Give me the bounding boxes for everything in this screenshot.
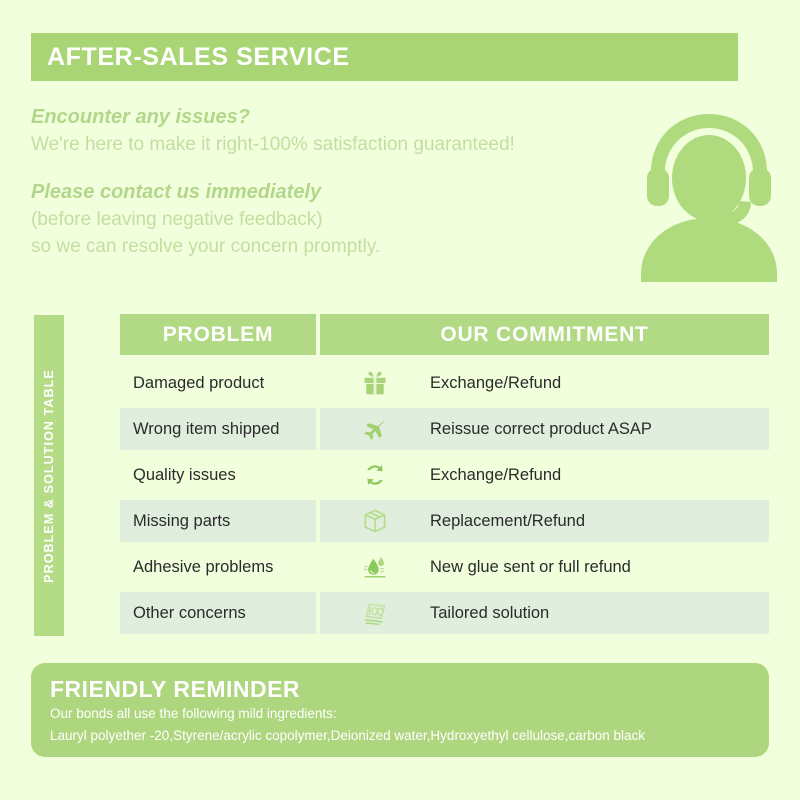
glue-droplet-icon <box>320 554 430 580</box>
page-title: AFTER-SALES SERVICE <box>31 43 350 72</box>
problem-label: Other concerns <box>133 604 246 623</box>
refresh-cycle-icon <box>320 462 430 488</box>
table-cell-commitment: Reissue correct product ASAP <box>320 408 769 450</box>
page-title-banner: AFTER-SALES SERVICE <box>31 33 738 81</box>
table-cell-commitment: Tailored solution <box>320 592 769 634</box>
sketch-note-icon <box>320 599 430 627</box>
problem-label: Damaged product <box>133 374 264 393</box>
problem-label: Missing parts <box>133 512 230 531</box>
friendly-reminder-title: FRIENDLY REMINDER <box>50 677 769 702</box>
intro-spacer <box>31 159 651 179</box>
table-cell-problem: Adhesive problems <box>120 546 316 588</box>
table-cell-commitment: Exchange/Refund <box>320 362 769 404</box>
after-sales-service-infographic: AFTER-SALES SERVICE Encounter any issues… <box>0 0 800 800</box>
side-label-problem-solution-table: PROBLEM & SOLUTION TABLE <box>34 315 64 636</box>
table-row: Damaged product Exchange/Refund <box>120 362 769 404</box>
side-label-text: PROBLEM & SOLUTION TABLE <box>42 369 56 583</box>
problem-solution-table: PROBLEM OUR COMMITMENT Damaged product <box>120 314 769 638</box>
intro-lead-1: Encounter any issues? <box>31 104 651 131</box>
commitment-label: New glue sent or full refund <box>430 558 631 577</box>
commitment-label: Exchange/Refund <box>430 374 561 393</box>
friendly-reminder-line-1: Our bonds all use the following mild ing… <box>50 704 769 724</box>
friendly-reminder-panel: FRIENDLY REMINDER Our bonds all use the … <box>31 663 769 757</box>
table-cell-commitment: Exchange/Refund <box>320 454 769 496</box>
intro-lead-2: Please contact us immediately <box>31 179 651 206</box>
column-header-problem-label: PROBLEM <box>163 323 274 347</box>
airplane-icon <box>320 415 430 443</box>
column-header-commitment-label: OUR COMMITMENT <box>440 323 648 347</box>
table-row: Other concerns Tailore <box>120 592 769 634</box>
gift-icon <box>320 369 430 397</box>
column-header-problem: PROBLEM <box>120 314 316 355</box>
table-row: Adhesive problems New glue sent or fu <box>120 546 769 588</box>
commitment-label: Reissue correct product ASAP <box>430 420 652 439</box>
intro-section: Encounter any issues? We're here to make… <box>31 104 651 261</box>
headset-support-agent-icon <box>629 106 789 282</box>
problem-label: Adhesive problems <box>133 558 273 577</box>
table-cell-problem: Missing parts <box>120 500 316 542</box>
problem-label: Wrong item shipped <box>133 420 279 439</box>
column-header-commitment: OUR COMMITMENT <box>320 314 769 355</box>
intro-sub-3: so we can resolve your concern promptly. <box>31 233 651 261</box>
commitment-label: Exchange/Refund <box>430 466 561 485</box>
intro-sub-1: We're here to make it right-100% satisfa… <box>31 131 651 159</box>
table-cell-problem: Other concerns <box>120 592 316 634</box>
table-header-row: PROBLEM OUR COMMITMENT <box>120 314 769 355</box>
table-row: Wrong item shipped Reissue correct produ… <box>120 408 769 450</box>
table-row: Quality issues Exchange/Refund <box>120 454 769 496</box>
intro-sub-2: (before leaving negative feedback) <box>31 206 651 234</box>
table-row: Missing parts Replacement/Refund <box>120 500 769 542</box>
table-cell-problem: Damaged product <box>120 362 316 404</box>
commitment-label: Replacement/Refund <box>430 512 585 531</box>
table-cell-problem: Quality issues <box>120 454 316 496</box>
commitment-label: Tailored solution <box>430 604 549 623</box>
friendly-reminder-line-2: Lauryl polyether -20,Styrene/acrylic cop… <box>50 726 769 746</box>
package-box-icon <box>320 507 430 535</box>
problem-label: Quality issues <box>133 466 236 485</box>
table-cell-problem: Wrong item shipped <box>120 408 316 450</box>
table-cell-commitment: Replacement/Refund <box>320 500 769 542</box>
table-cell-commitment: New glue sent or full refund <box>320 546 769 588</box>
